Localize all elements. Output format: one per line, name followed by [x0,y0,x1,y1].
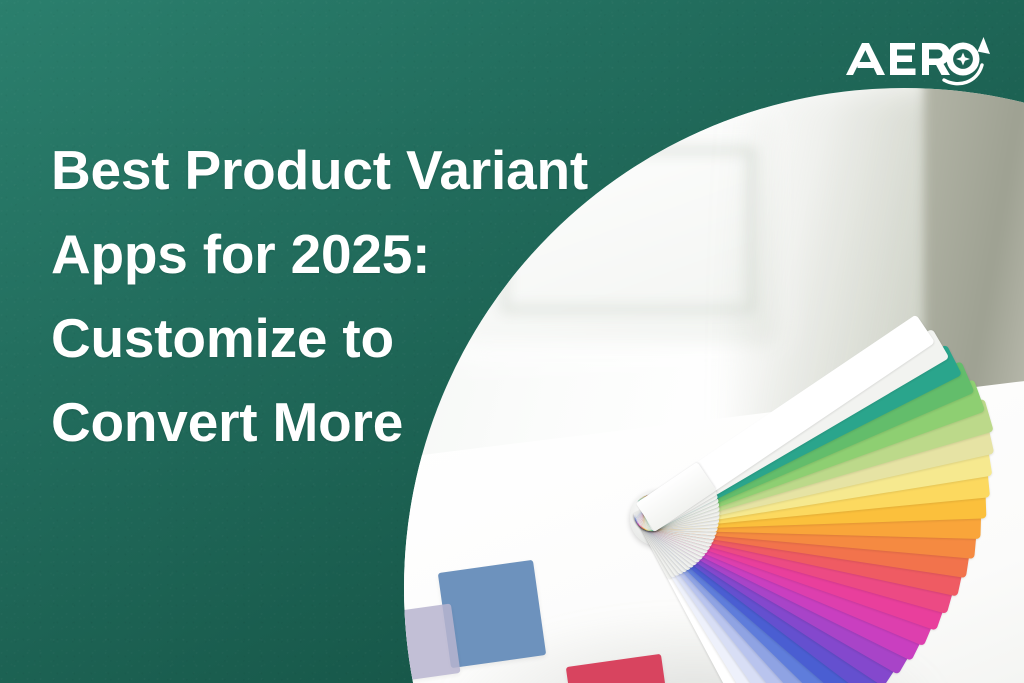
star-icon [956,53,970,66]
headline-line-1: Best Product Variant [51,128,671,212]
page-title: Best Product Variant Apps for 2025: Cust… [51,128,671,464]
aero-logo[interactable] [844,31,992,93]
arrow-up-icon [978,37,991,54]
headline-line-4: Convert More [51,380,671,464]
headline-line-3: Customize to [51,296,671,380]
paper-swatch-lilac [404,603,461,682]
headline-line-2: Apps for 2025: [51,212,671,296]
blog-banner: Best Product Variant Apps for 2025: Cust… [0,0,1024,683]
